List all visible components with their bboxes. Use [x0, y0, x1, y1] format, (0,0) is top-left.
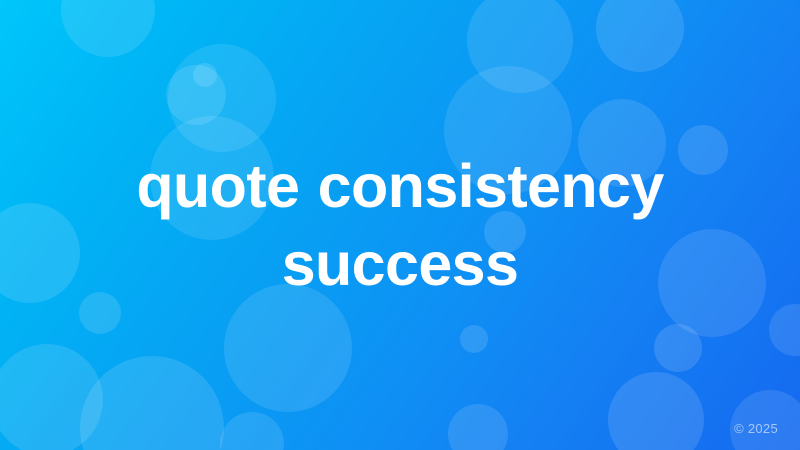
title-block: quote consistency success [0, 0, 800, 450]
title-slide: quote consistency success © 2025 [0, 0, 800, 450]
copyright-footer: © 2025 [734, 421, 778, 436]
page-title: quote consistency success [70, 147, 730, 303]
